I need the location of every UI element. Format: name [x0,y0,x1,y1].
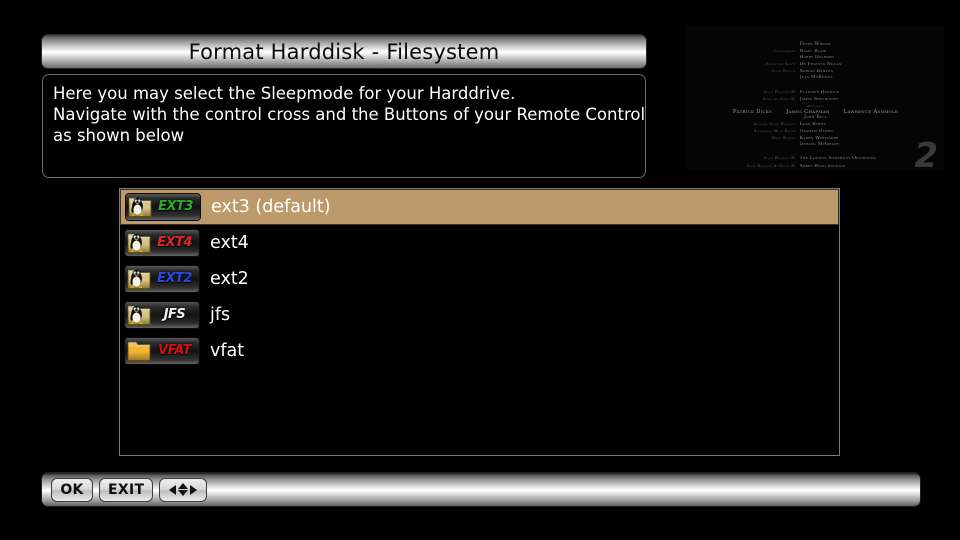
arrow-right-icon [190,485,197,495]
filesystem-list[interactable]: EXT3ext3 (default) EXT4ext4 [119,188,840,456]
folder-icon [126,339,153,363]
credits-name: Lawrence Ashmole [844,109,899,115]
credits-role: Score Recorded By [722,155,796,161]
exit-button[interactable]: EXIT [99,478,153,502]
arrow-up-icon [178,483,188,489]
folder-shape [126,339,153,363]
credits-line: Score Recorded ByThe London Symphony Orc… [687,155,944,162]
list-item[interactable]: EXT4ext4 [120,225,839,261]
ext3-folder-icon: EXT3 [126,194,200,220]
credits-name: Gerard McGrath [800,142,910,148]
credits-name: Abbey Road Studios [800,164,910,170]
credits-line: ClapperboardNigel Blair [687,48,944,55]
credits-line: Music EditorsKaren Whittaker [687,135,944,142]
info-description-box: Here you may select the Sleepmode for yo… [42,74,646,178]
ext2-folder-icon: EXT2 [125,266,199,292]
filesystem-tag-label: EXT2 [153,266,199,292]
filesystem-tag-label: EXT4 [153,230,199,256]
credits-role: Score and Songs By [722,96,796,102]
window-title-bar: Format Harddisk - Filesystem [42,35,646,68]
list-item-label: ext2 [210,269,249,289]
credits-line: Score Recorded At Studio ByAbbey Road St… [687,163,944,170]
list-item[interactable]: JFSjfs [120,297,839,333]
folder-shape [126,267,153,291]
folder-icon [126,231,153,255]
folder-icon [126,303,153,327]
arrow-updown-icon [178,483,188,496]
credits-line: Score and Songs ByJames Shelbourn [687,96,944,103]
credits-role: Supervising Music Editor [722,128,796,134]
credits-name: Jean McKenna [800,75,910,81]
credits-role: Score Produced By [722,89,796,95]
list-item-label: ext4 [210,233,249,253]
credits-line: Production SafetyDr Francis Nolan [687,61,944,68]
info-line: Here you may select the Sleepmode for yo… [53,83,635,104]
dpad-button[interactable] [159,478,207,502]
credits-name: Harry Dearden [800,55,910,61]
credits-role: Assistant Score Engineer [722,121,796,127]
folder-shape [126,303,153,327]
credits-name: James Shelbourn [800,97,910,103]
tv-osd-screen: Peter WrightClapperboardNigel BlairHarry… [0,0,960,540]
credits-spacer [687,148,944,155]
movie-credits-text: Peter WrightClapperboardNigel BlairHarry… [687,26,944,169]
list-item[interactable]: VFATvfat [120,333,839,369]
credits-role: Production Safety [722,61,796,67]
credits-name: Dr Francis Nolan [800,62,910,68]
list-item[interactable]: EXT3ext3 (default) [120,189,839,225]
folder-shape [126,231,153,255]
folder-icon [126,267,153,291]
folder-icon [127,195,154,219]
credits-role: Visual Effects [722,68,796,74]
jfs-folder-icon: JFS [125,302,199,328]
credits-role: Score Recorded At Studio By [722,163,796,169]
info-line: as shown below [53,125,635,146]
list-item-label: vfat [210,341,244,361]
credits-line: Visual EffectsAdrian Banton [687,68,944,75]
vfat-folder-icon: VFAT [125,338,199,364]
credits-spacer [687,82,944,89]
filesystem-tag-label: EXT3 [154,194,200,220]
folder-shape [127,195,154,219]
list-item-label: jfs [210,305,230,325]
credits-name: The London Symphony Orchestra [800,156,910,162]
credits-line: Score Produced ByVladimir Rennick [687,89,944,96]
credits-name: Graham Olden [800,129,910,135]
page-title: Format Harddisk - Filesystem [189,40,500,64]
list-item-label: ext3 (default) [211,197,331,217]
credits-line: Assistant Score EngineerLuke Byrne [687,121,944,128]
info-line: Navigate with the control cross and the … [53,104,635,125]
ok-button[interactable]: OK [51,478,93,502]
credits-role: Music Editors [722,135,796,141]
arrow-down-icon [178,490,188,496]
bottom-toolbar: OK EXIT [42,473,920,506]
credits-name: Luke Byrne [800,122,910,128]
credits-name: Patrick Dicks [733,109,772,115]
credits-line: Supervising Music EditorGraham Olden [687,128,944,135]
filesystem-tag-label: VFAT [153,338,199,364]
credits-name: Vladimir Rennick [800,90,910,96]
video-frame: Peter WrightClapperboardNigel BlairHarry… [687,26,944,169]
control-cross-icon [169,483,197,496]
credits-role: Clapperboard [722,48,796,54]
arrow-left-icon [169,485,176,495]
filesystem-tag-label: JFS [153,302,199,328]
ext4-folder-icon: EXT4 [125,230,199,256]
channel-logo: 2 [914,139,936,169]
list-item[interactable]: EXT2ext2 [120,261,839,297]
